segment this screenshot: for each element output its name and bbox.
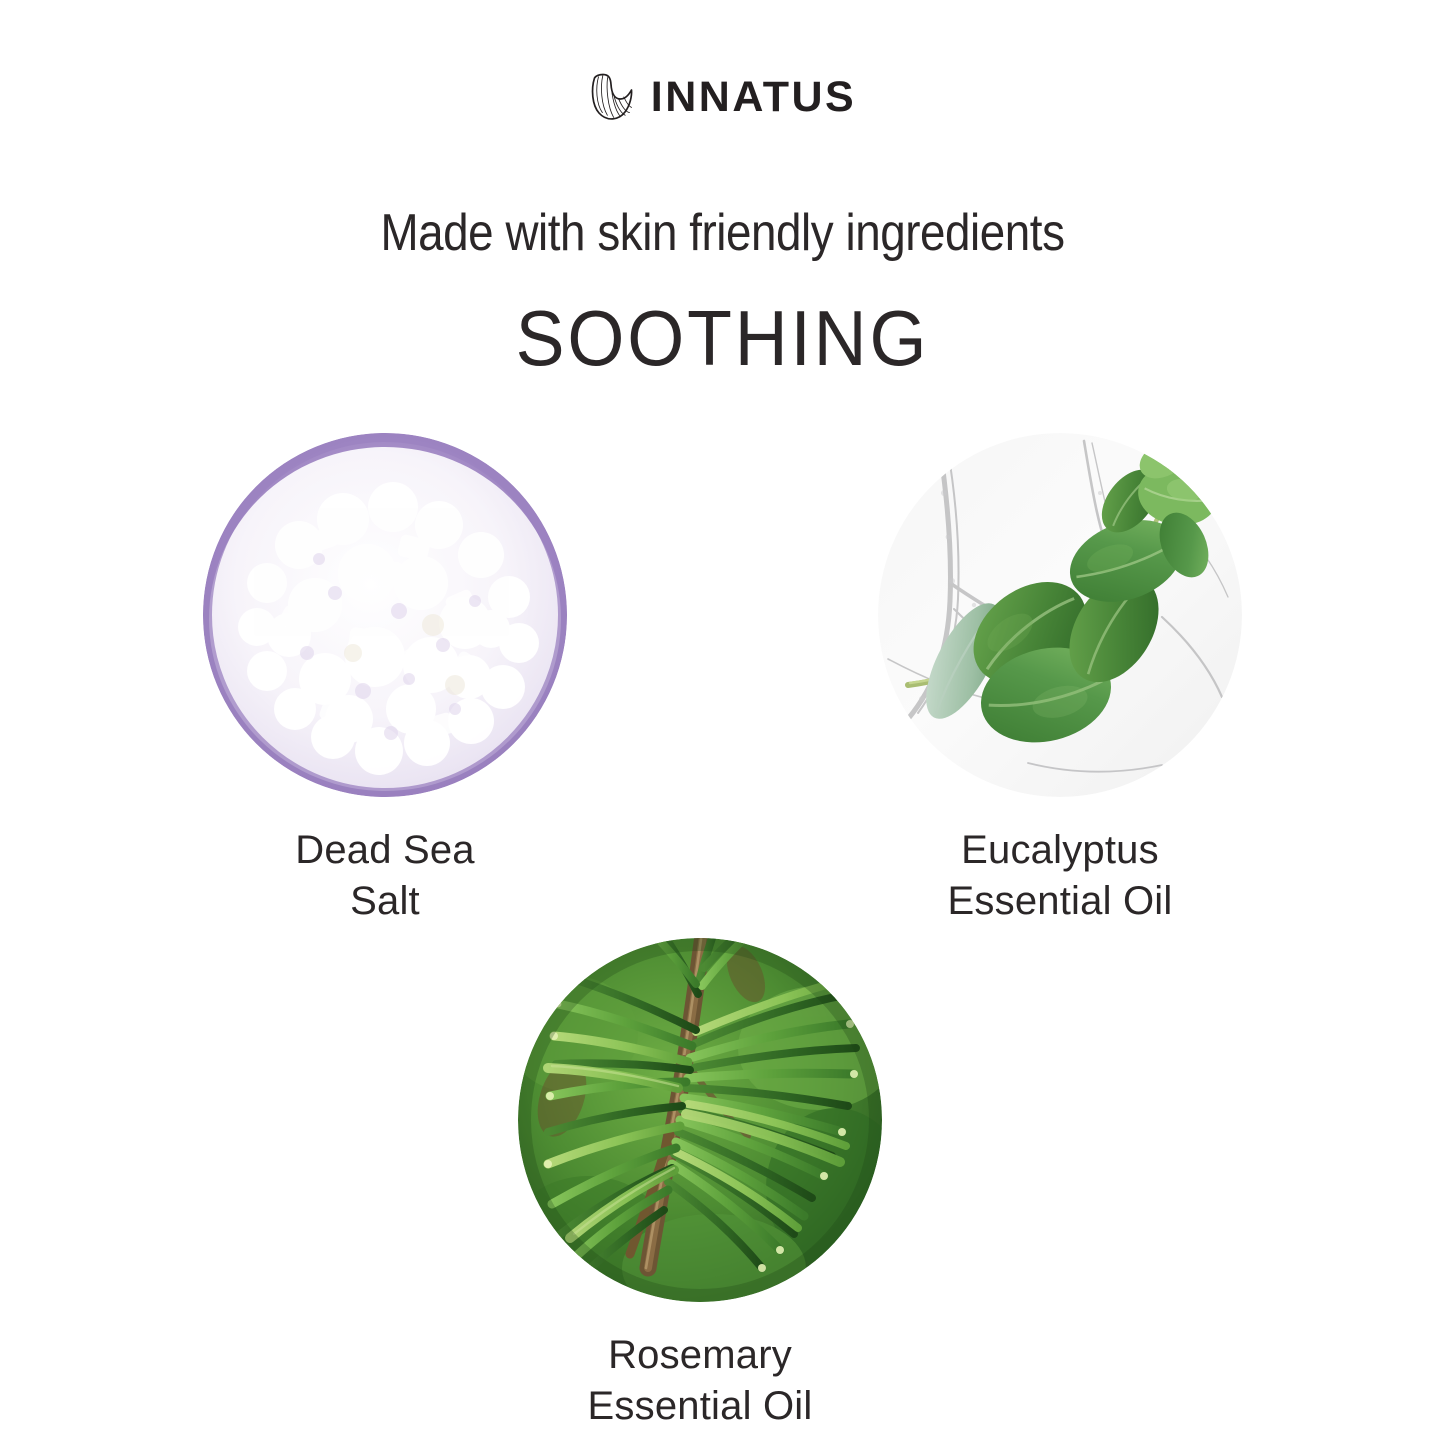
ingredient-caption: Eucalyptus Essential Oil (870, 825, 1250, 927)
eucalyptus-sprig-photo (878, 433, 1242, 797)
ingredient-name-line1: Dead Sea (195, 825, 575, 876)
ingredient-name-line1: Rosemary (510, 1330, 890, 1381)
ingredient-name-line2: Essential Oil (870, 876, 1250, 927)
ingredient-item-rosemary: Rosemary Essential Oil (510, 938, 890, 1432)
page-title: SOOTHING (43, 296, 1401, 382)
ingredient-item-eucalyptus: Eucalyptus Essential Oil (870, 433, 1250, 927)
ingredient-caption: Dead Sea Salt (195, 825, 575, 927)
ingredient-name-line2: Essential Oil (510, 1381, 890, 1432)
ingredient-name-line2: Salt (195, 876, 575, 927)
brand-logo: INNATUS (0, 72, 1445, 122)
tagline: Made with skin friendly ingredients (87, 205, 1359, 262)
leaf-shell-logo-icon (589, 72, 635, 122)
brand-name: INNATUS (651, 76, 856, 119)
rosemary-sprig-photo (518, 938, 882, 1302)
ingredient-caption: Rosemary Essential Oil (510, 1330, 890, 1432)
ingredient-infographic: INNATUS Made with skin friendly ingredie… (0, 0, 1445, 1445)
dead-sea-salt-photo (203, 433, 567, 797)
ingredient-name-line1: Eucalyptus (870, 825, 1250, 876)
ingredient-item-dead-sea-salt: Dead Sea Salt (195, 433, 575, 927)
